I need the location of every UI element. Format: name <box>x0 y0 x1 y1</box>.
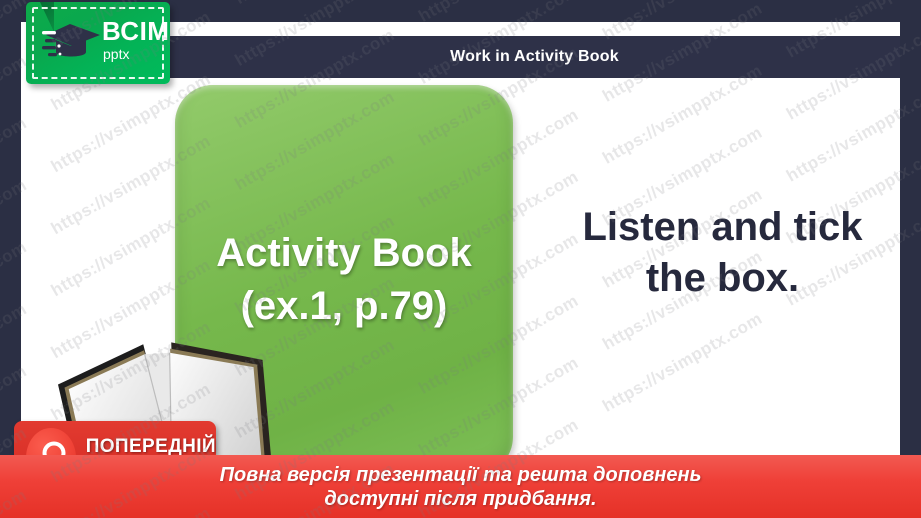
activity-book-line-2: (ex.1, p.79) <box>241 280 448 333</box>
instruction-text: Listen and tick the box. <box>545 202 900 304</box>
purchase-notice-line-2: доступні після придбання. <box>324 487 596 511</box>
vsimpptx-logo: ВСІМ pptx <box>26 2 170 84</box>
purchase-notice-line-1: Повна версія презентації та решта доповн… <box>220 463 702 487</box>
instruction-line-2: the box. <box>545 253 900 304</box>
activity-book-line-1: Activity Book <box>216 227 472 280</box>
slide-header-title: Work in Activity Book <box>450 48 619 66</box>
graduation-cap-icon <box>42 22 102 67</box>
slide-header-bar: Work in Activity Book <box>169 36 900 78</box>
logo-extension-label: pptx <box>103 47 169 61</box>
instruction-line-1: Listen and tick <box>545 202 900 253</box>
presentation-slide: Work in Activity Book Activity Book (ex.… <box>0 0 921 518</box>
logo-text: ВСІМ pptx <box>102 18 169 61</box>
purchase-notice-banner: Повна версія презентації та решта доповн… <box>0 455 921 518</box>
logo-brand-name: ВСІМ <box>102 18 169 44</box>
